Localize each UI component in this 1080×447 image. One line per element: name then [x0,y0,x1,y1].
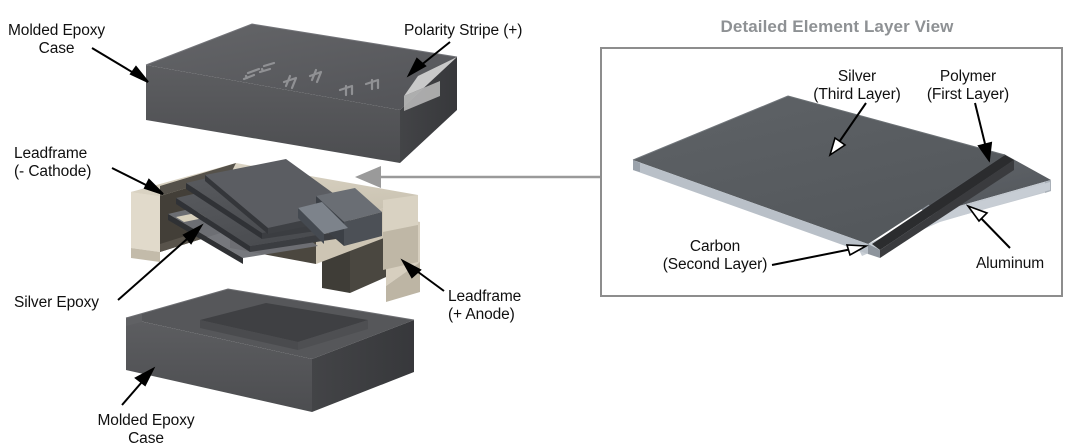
label-polymer-first-layer: Polymer(First Layer) [913,68,1023,103]
label-silver-epoxy: Silver Epoxy [14,294,99,312]
label-silver-third-layer: Silver(Third Layer) [802,68,912,103]
label-molded-epoxy-case-bottom: Molded EpoxyCase [66,412,226,447]
molded-epoxy-case-top-body [146,24,457,163]
diagram-canvas: Detailed Element Layer View Molded Epoxy… [0,0,1080,445]
link-arrow [355,166,600,188]
case-marking-text [244,63,378,95]
leadframe-anode-body [322,218,420,302]
label-carbon-second-layer: Carbon(Second Layer) [640,238,790,273]
polarity-stripe-face [404,57,457,96]
molded-epoxy-case-bottom-body [126,289,414,412]
callout-arrows-left [92,42,450,405]
detail-panel-title: Detailed Element Layer View [612,17,1062,37]
leadframe-cathode-body [131,163,418,270]
label-leadframe-cathode: Leadframe(- Cathode) [14,145,91,180]
label-molded-epoxy-case-top: Molded EpoxyCase [8,22,105,57]
label-aluminum: Aluminum [955,255,1065,273]
element-plate-stack [168,159,382,264]
label-leadframe-anode: Leadframe(+ Anode) [448,288,521,323]
label-polarity-stripe: Polarity Stripe (+) [404,22,522,40]
silver-epoxy-layer [176,202,258,222]
